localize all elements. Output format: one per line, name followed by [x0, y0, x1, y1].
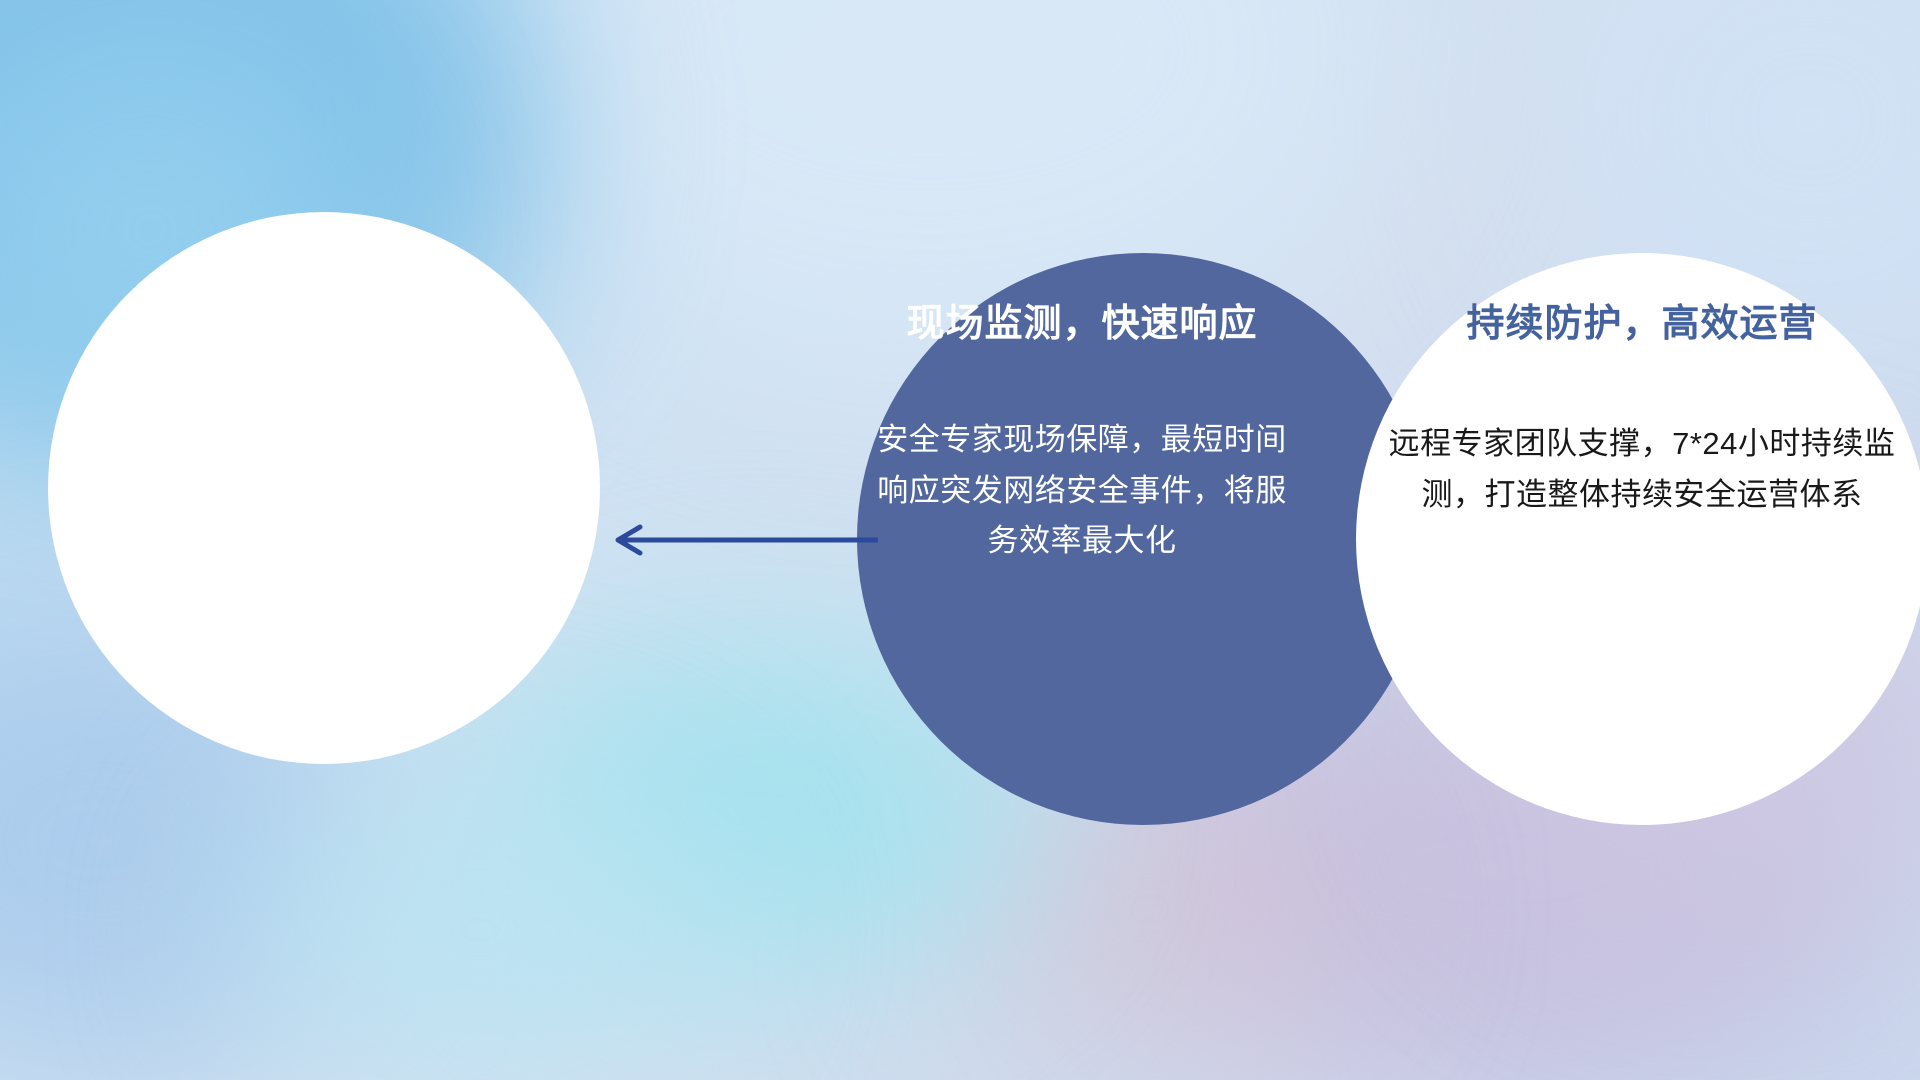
right-circle-title: 持续防护，高效运营	[1381, 300, 1903, 349]
right-circle-body: 远程专家团队支撑，7*24小时持续监测，打造整体持续安全运营体系	[1381, 419, 1903, 519]
leftward-arrow-icon	[600, 520, 880, 560]
right-circle-content: 持续防护，高效运营 远程专家团队支撑，7*24小时持续监测，打造整体持续安全运营…	[1381, 300, 1903, 520]
center-circle-body: 安全专家现场保障，最短时间响应突发网络安全事件，将服务效率最大化	[872, 415, 1292, 566]
left-circle-shape	[48, 212, 600, 764]
center-circle-content: 现场监测，快速响应 安全专家现场保障，最短时间响应突发网络安全事件，将服务效率最…	[872, 300, 1292, 566]
center-circle-title: 现场监测，快速响应	[872, 300, 1292, 349]
